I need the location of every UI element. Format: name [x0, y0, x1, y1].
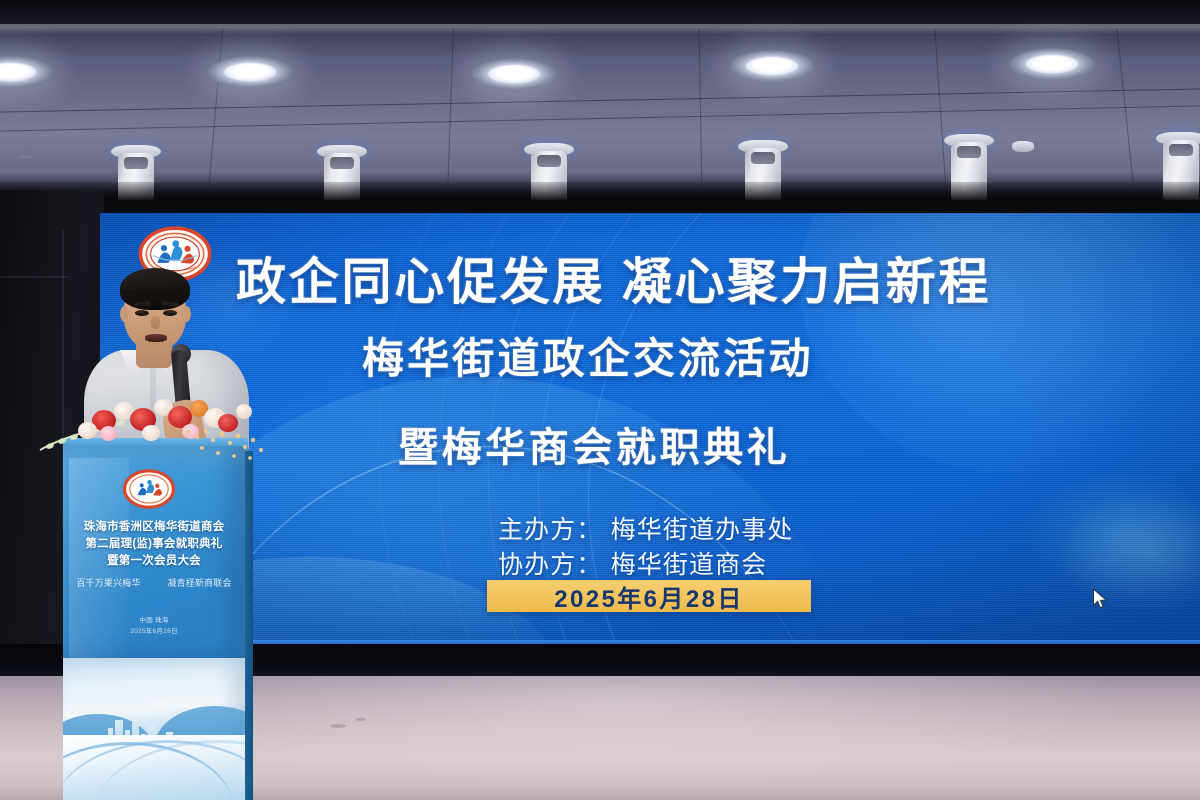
- ceiling-downlight: [730, 50, 814, 82]
- rose-pink: [100, 426, 117, 441]
- gypsophila-spray: [182, 426, 270, 467]
- speaker-ear: [182, 306, 191, 322]
- rose-white: [236, 404, 252, 419]
- podium-couplet-left: 百千万果兴梅华: [76, 576, 140, 589]
- podium-chamber-emblem-icon: [123, 468, 175, 510]
- speaker-eye: [135, 310, 149, 316]
- podium-location-text: 中国 珠海: [63, 614, 245, 624]
- screen-organizer-line: 主办方： 梅华街道办事处: [498, 510, 793, 546]
- podium-front-panel: 珠海市香洲区梅华街道商会 第二届理(监)事会就职典礼 暨第一次会员大会 百千万果…: [63, 446, 245, 658]
- ceiling-downlight: [0, 56, 52, 88]
- screen-title-line-1: 政企同心促发展 凝心聚力启新程: [236, 242, 991, 314]
- screen-coorganizer-line: 协办方： 梅华街道商会: [498, 545, 767, 581]
- ceiling-top-band: [0, 0, 1200, 26]
- podium-couplet: 百千万果兴梅华 凝青柽新商联会: [63, 576, 245, 589]
- mouse-cursor-icon: [1092, 588, 1110, 610]
- ceiling-shadow-band: [0, 182, 1200, 200]
- flower-arrangement: [38, 392, 268, 462]
- podium-couplet-right: 凝青柽新商联会: [167, 576, 231, 589]
- ceiling-seam: [447, 28, 454, 193]
- ceiling-seam: [208, 28, 223, 192]
- screenshot-root: 政企同心促发展 凝心聚力启新程 梅华街道政企交流活动 暨梅华商会就职典礼 主办方…: [0, 0, 1200, 800]
- podium-sign-line-2: 第二届理(监)事会就职典礼: [63, 535, 245, 551]
- speaker-mouth: [145, 334, 167, 342]
- speaker-ear: [120, 306, 129, 322]
- podium-skyline-graphic: [63, 658, 245, 800]
- speaker-nose: [151, 316, 160, 329]
- podium-sign-line-3: 暨第一次会员大会: [63, 552, 245, 568]
- ceiling-seam: [699, 28, 703, 193]
- ceiling-downlight: [472, 58, 556, 90]
- rose-white: [142, 425, 160, 441]
- podium-sign-line-1: 珠海市香洲区梅华街道商会: [63, 518, 245, 534]
- ceiling-downlight: [1010, 48, 1094, 80]
- ceiling-seam: [1116, 28, 1134, 192]
- podium: 珠海市香洲区梅华街道商会 第二届理(监)事会就职典礼 暨第一次会员大会 百千万果…: [63, 438, 248, 800]
- screen-blob-decor: [1060, 493, 1200, 613]
- speaker-hair: [120, 268, 190, 310]
- ceiling-cove-glow: [0, 24, 1200, 34]
- speaker-eye: [163, 310, 177, 316]
- sprinkler-head-icon: [18, 148, 32, 160]
- podium-date-text: 2025年6月28日: [63, 625, 245, 635]
- screen-title-line-3: 暨梅华商会就职典礼: [398, 415, 790, 473]
- ceiling: [0, 0, 1200, 200]
- ceiling-downlight: [208, 56, 292, 88]
- smoke-detector-icon: [1012, 141, 1034, 152]
- screen-title-line-2: 梅华街道政企交流活动: [362, 325, 814, 386]
- rose-white: [78, 422, 97, 439]
- screen-date-badge: 2025年6月28日: [487, 580, 811, 612]
- ceiling-seam: [0, 105, 1200, 131]
